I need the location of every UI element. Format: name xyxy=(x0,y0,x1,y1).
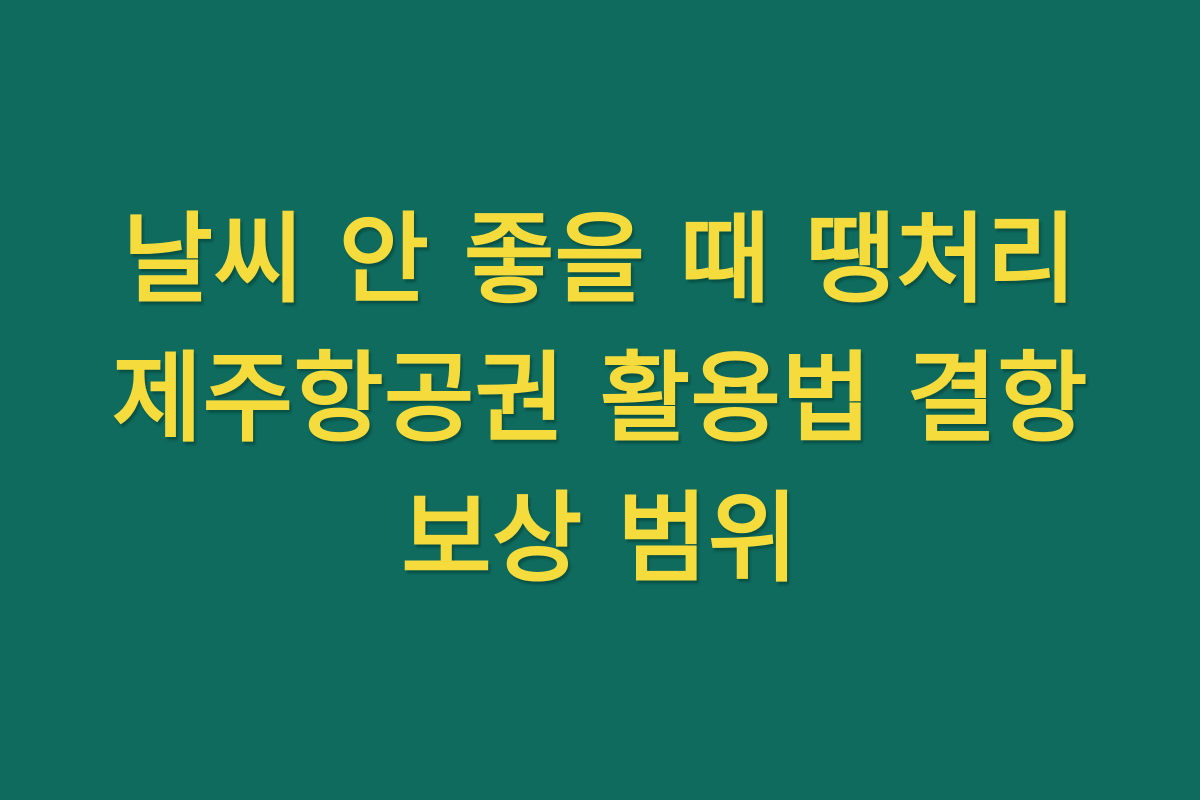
page-title: 날씨 안 좋을 때 땡처리 제주항공권 활용법 결항 보상 범위 xyxy=(70,191,1130,608)
headline-line-2: 제주항공권 활용법 결항 xyxy=(70,330,1130,469)
headline-line-1: 날씨 안 좋을 때 땡처리 xyxy=(70,191,1130,330)
headline-line-3: 보상 범위 xyxy=(70,470,1130,609)
poster-canvas: 날씨 안 좋을 때 땡처리 제주항공권 활용법 결항 보상 범위 xyxy=(0,0,1200,800)
